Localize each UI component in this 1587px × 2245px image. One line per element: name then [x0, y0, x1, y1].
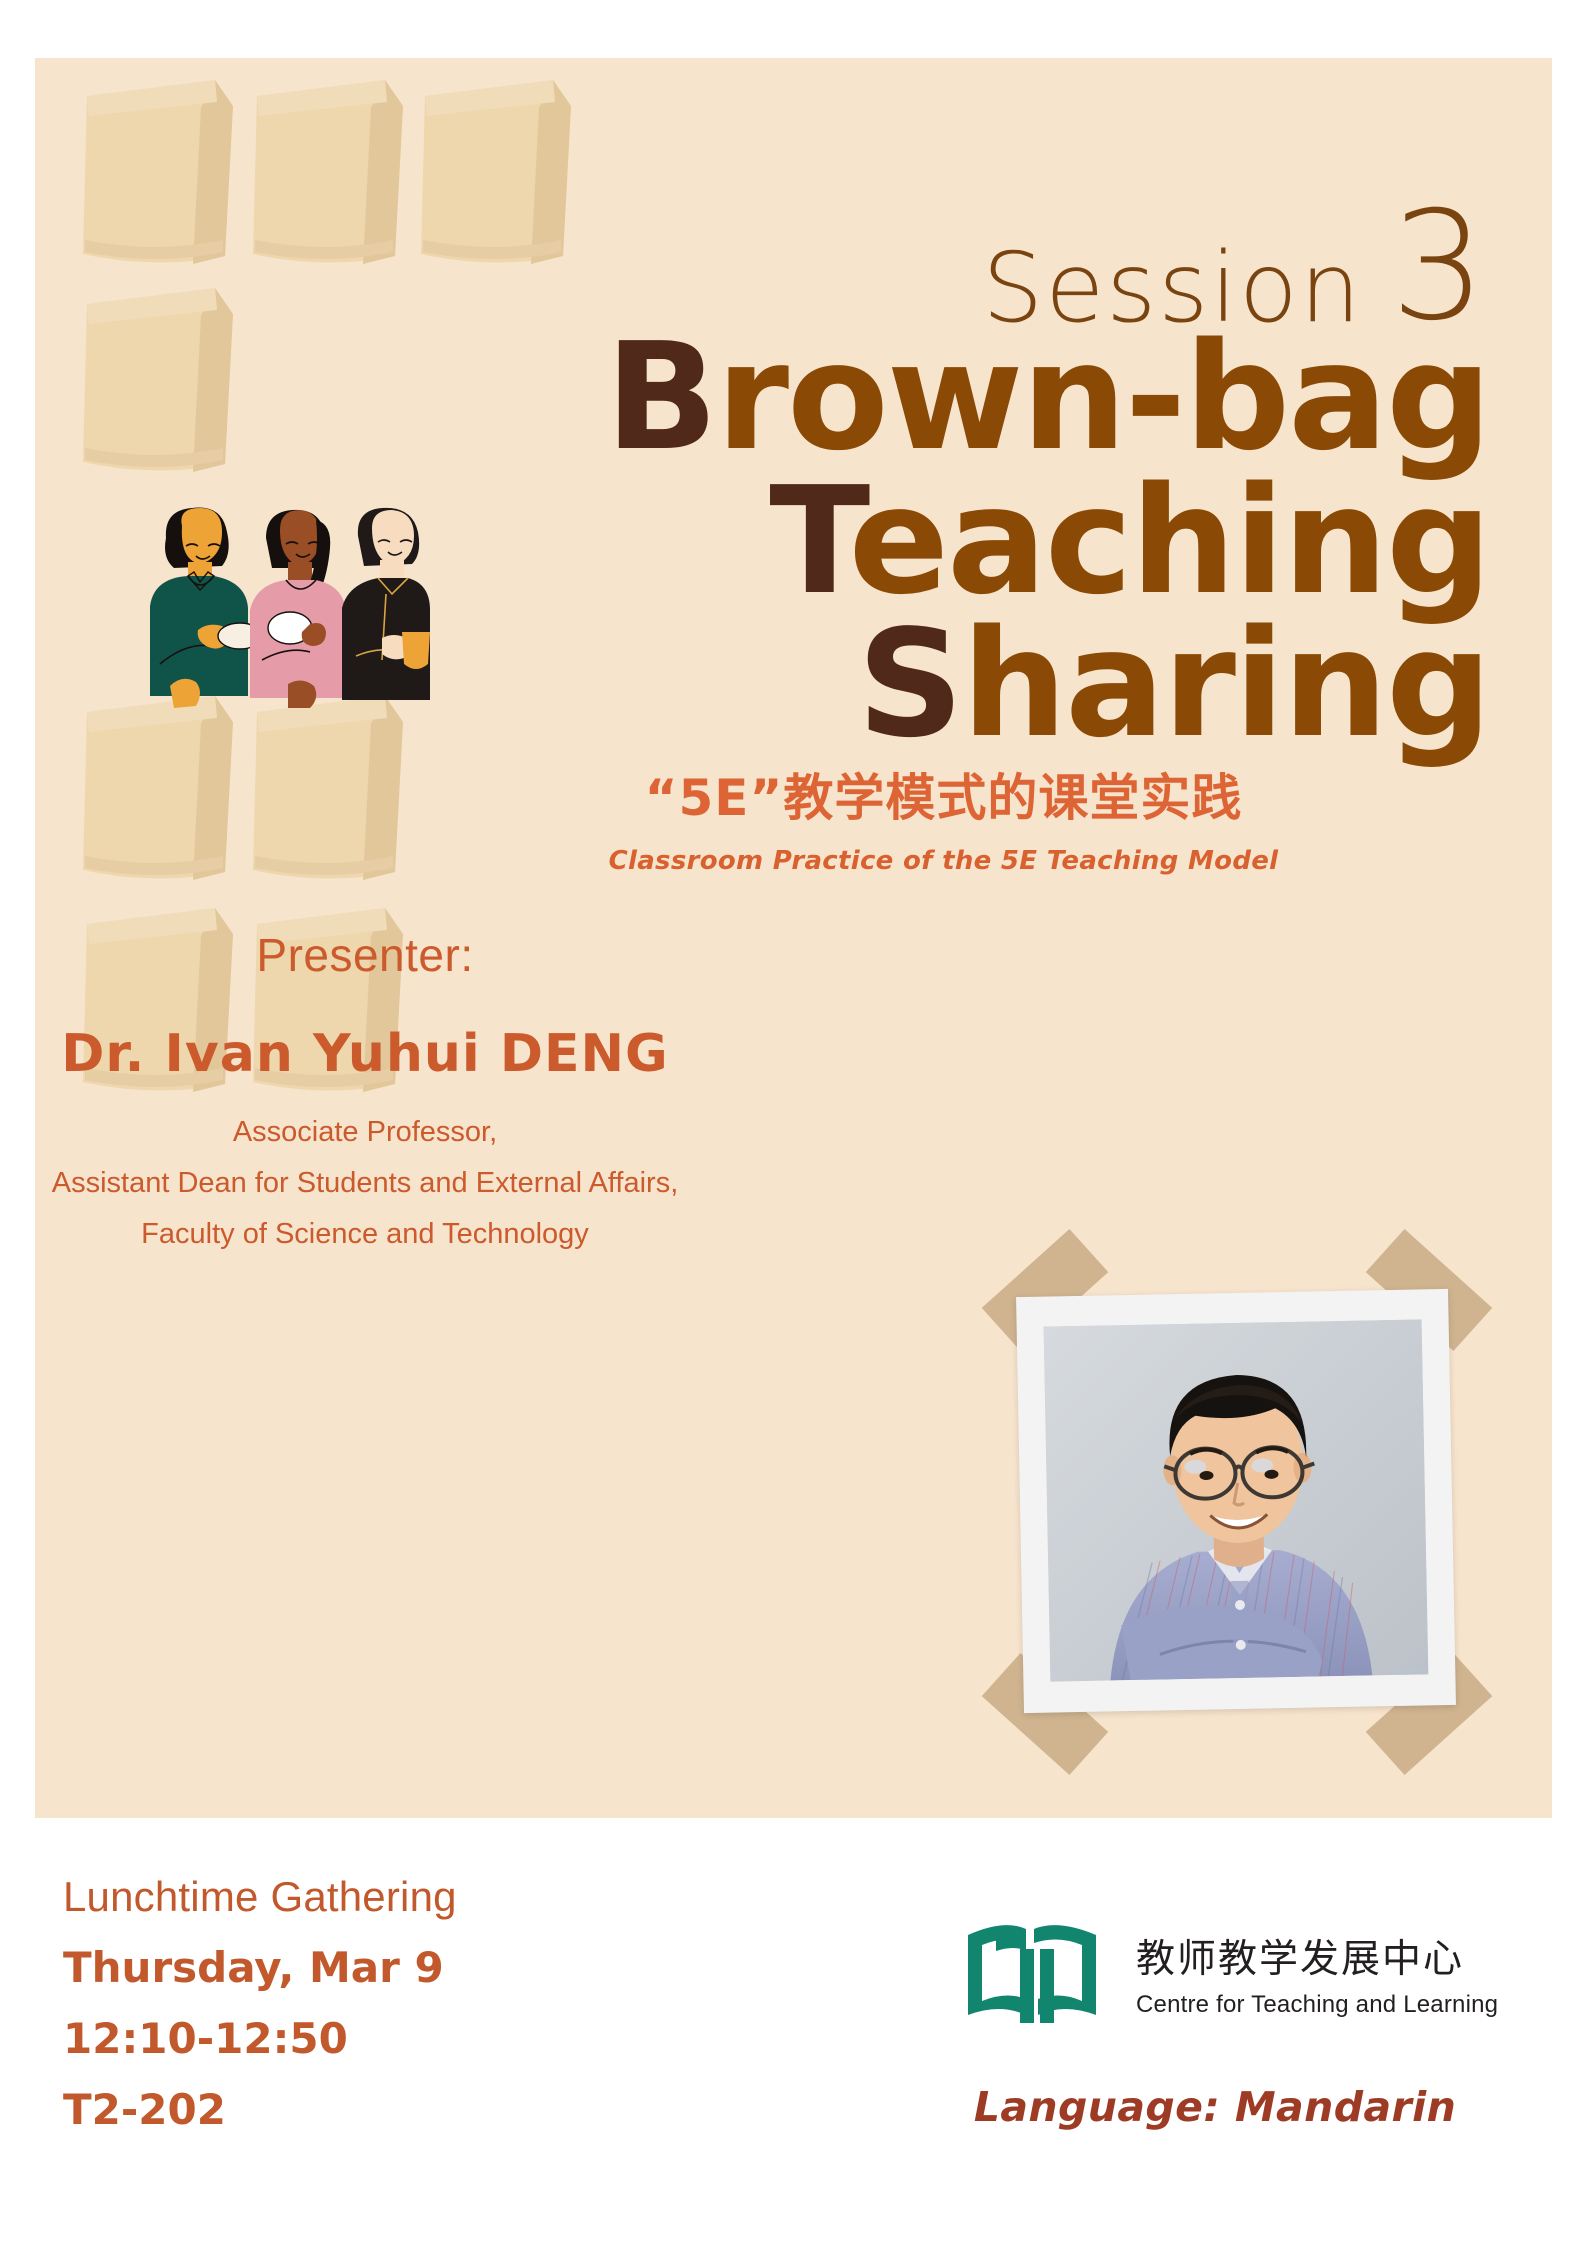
polaroid-card [1016, 1289, 1456, 1713]
presenter-photo-frame [998, 1271, 1474, 1731]
ctl-name-chinese: 教师教学发展中心 [1136, 1928, 1498, 1984]
title-line-3-initial: S [857, 598, 962, 770]
title-line-3-rest: haring [962, 598, 1490, 770]
ctl-logo: 教师教学发展中心 Centre for Teaching and Learnin… [960, 1915, 1498, 2032]
title-line-2-initial: T [769, 455, 848, 627]
paper-bag-icon [403, 58, 578, 268]
paper-bag-icon [235, 58, 410, 268]
event-heading: Lunchtime Gathering [63, 1873, 457, 1921]
people-with-coffee-illustration [130, 496, 430, 711]
event-date: Thursday, Mar 9 [63, 1943, 457, 1992]
presenter-name: Dr. Ivan Yuhui DENG [35, 1024, 695, 1084]
event-details: Lunchtime Gathering Thursday, Mar 9 12:1… [63, 1873, 457, 2134]
presenter-role-line: Associate Professor, [35, 1116, 695, 1149]
title-line-1: Brown-bag [35, 326, 1490, 470]
language-note: Language: Mandarin [905, 2083, 1525, 2131]
presenter-section: Presenter: Dr. Ivan Yuhui DENG Associate… [35, 928, 695, 1251]
presenter-role-line: Assistant Dean for Students and External… [35, 1167, 695, 1200]
subtitle-english: Classroom Practice of the 5E Teaching Mo… [335, 846, 1552, 876]
presenter-label: Presenter: [35, 928, 695, 982]
event-time: 12:10-12:50 [63, 2014, 457, 2063]
poster-subtitle: “5E”教学模式的课堂实践 Classroom Practice of the … [35, 758, 1552, 876]
title-line-1-initial: B [605, 311, 716, 483]
open-book-icon [960, 1915, 1110, 2032]
ctl-logo-text: 教师教学发展中心 Centre for Teaching and Learnin… [1136, 1928, 1498, 2019]
subtitle-chinese: “5E”教学模式的课堂实践 [335, 758, 1552, 830]
event-venue: T2-202 [63, 2085, 457, 2134]
paper-bag-icon [65, 58, 240, 268]
presenter-portrait [1044, 1319, 1429, 1681]
ctl-name-english: Centre for Teaching and Learning [1136, 1991, 1498, 2019]
presenter-role-line: Faculty of Science and Technology [35, 1218, 695, 1251]
